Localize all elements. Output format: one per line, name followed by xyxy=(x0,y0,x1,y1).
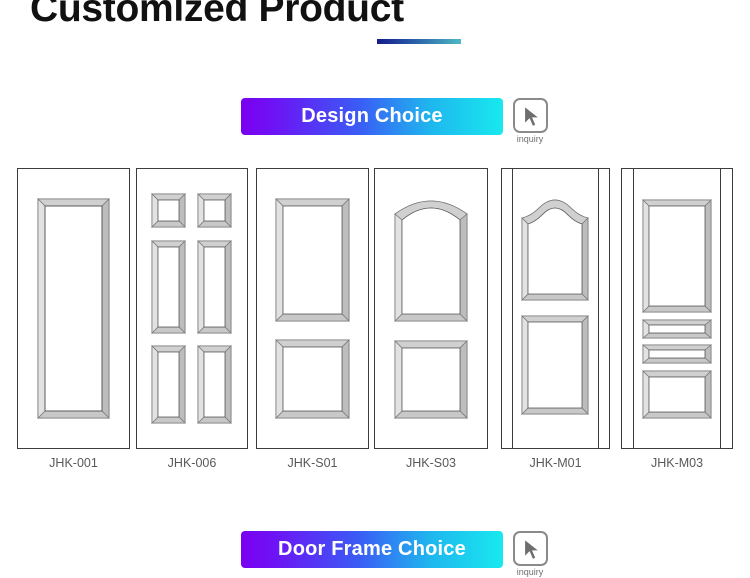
door-card-2[interactable]: JHK-006 xyxy=(136,168,248,478)
door-card-5[interactable]: JHK-M01 xyxy=(501,168,610,478)
title-underline-accent xyxy=(377,39,461,44)
page-title: Customized Product xyxy=(30,0,404,31)
door-frame-choice-label: Door Frame Choice xyxy=(278,538,466,561)
door-code-1: JHK-001 xyxy=(17,456,130,470)
design-choice-inquiry[interactable]: inquiry xyxy=(512,98,548,145)
door-code-4: JHK-S03 xyxy=(374,456,488,470)
door-illustration-1 xyxy=(17,168,130,449)
door-card-3[interactable]: JHK-S01 xyxy=(256,168,369,478)
design-choice-label: Design Choice xyxy=(301,105,443,128)
door-code-5: JHK-M01 xyxy=(501,456,610,470)
door-code-6: JHK-M03 xyxy=(621,456,733,470)
door-frame-choice-inquiry[interactable]: inquiry xyxy=(512,531,548,578)
inquiry-label-frame: inquiry xyxy=(517,567,544,578)
design-choice-button[interactable]: Design Choice xyxy=(241,98,503,135)
inquiry-button-frame[interactable] xyxy=(513,531,548,566)
door-frame-choice-section-header: Door Frame Choice inquiry xyxy=(241,531,548,578)
door-illustration-2 xyxy=(136,168,248,449)
door-frame-choice-button[interactable]: Door Frame Choice xyxy=(241,531,503,568)
inquiry-label-design: inquiry xyxy=(517,134,544,145)
door-illustration-3 xyxy=(256,168,369,449)
door-card-4[interactable]: JHK-S03 xyxy=(374,168,488,478)
door-illustration-6 xyxy=(621,168,733,449)
door-illustration-4 xyxy=(374,168,488,449)
door-code-2: JHK-006 xyxy=(136,456,248,470)
door-card-6[interactable]: JHK-M03 xyxy=(621,168,733,478)
door-illustration-5 xyxy=(501,168,610,449)
door-code-3: JHK-S01 xyxy=(256,456,369,470)
design-choice-section-header: Design Choice inquiry xyxy=(241,98,548,145)
door-design-grid: JHK-001 xyxy=(0,168,750,478)
inquiry-button-design[interactable] xyxy=(513,98,548,133)
door-card-1[interactable]: JHK-001 xyxy=(17,168,130,478)
